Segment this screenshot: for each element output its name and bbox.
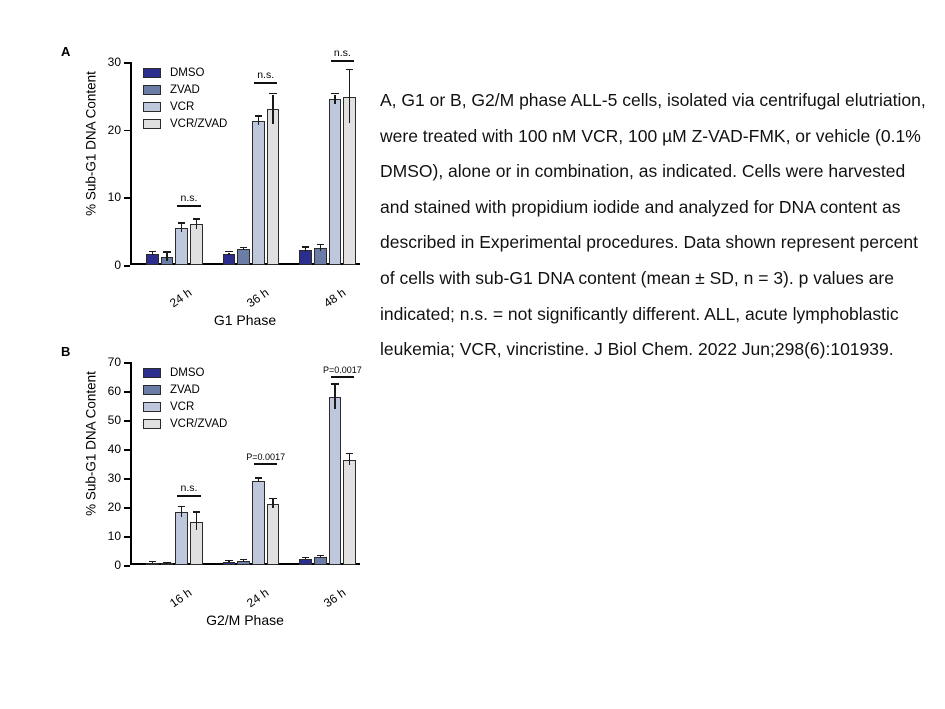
error-bar [152,252,153,255]
error-bar-cap [225,251,232,252]
significance-line [254,82,277,84]
error-bar [243,248,244,250]
y-tick-label: 40 [108,442,121,456]
panel-a-legend: DMSOZVADVCRVCR/ZVAD [143,64,227,132]
y-tick-mark [124,265,130,267]
error-bar-cap [163,251,170,252]
bar [267,504,280,565]
y-tick-label: 30 [108,471,121,485]
error-bar [272,95,273,125]
error-bar-cap [302,246,309,247]
significance-bracket: n.s. [177,193,200,207]
bar [175,512,188,565]
y-tick-mark [124,62,130,64]
error-bar [334,385,335,409]
error-bar-cap [178,222,185,223]
legend-swatch-icon [143,368,161,378]
significance-bracket: n.s. [177,483,200,497]
bar [299,559,312,565]
panel-a-y-axis-label: % Sub-G1 DNA Content [84,49,99,239]
legend-label: ZVAD [170,84,200,96]
y-tick-label: 0 [114,558,121,572]
error-bar [305,558,306,559]
panel-b-x-axis-title: G2/M Phase [130,612,360,628]
error-bar [334,95,335,104]
y-tick-label: 70 [108,355,121,369]
y-tick-mark [124,197,130,199]
significance-label: P=0.0017 [246,452,285,462]
panel-a-letter: A [61,44,70,59]
y-tick-label: 10 [108,529,121,543]
y-tick-label: 20 [108,123,121,137]
bar [329,397,342,565]
error-bar [272,499,273,508]
error-bar [181,507,182,517]
legend-item: VCR [143,98,227,115]
significance-label: n.s. [181,192,198,204]
error-bar [196,513,197,530]
error-bar [349,70,350,123]
legend-label: VCR [170,401,194,413]
legend-label: VCR/ZVAD [170,418,227,430]
x-tick-label: 48 h [321,285,348,310]
bar [267,109,280,265]
significance-label: n.s. [181,482,198,494]
error-bar [166,253,167,261]
legend-swatch-icon [143,402,161,412]
y-tick-label: 10 [108,190,121,204]
significance-label: n.s. [257,69,274,81]
significance-bracket: n.s. [254,70,277,84]
panel-a-x-axis-title: G1 Phase [130,312,360,328]
significance-line [177,495,200,497]
figure-column: A % Sub-G1 DNA Content 0102030 n.s.n.s.n… [55,40,375,650]
error-bar-cap [225,560,232,561]
significance-bracket: P=0.0017 [331,364,354,378]
bar [175,228,188,265]
legend-swatch-icon [143,119,161,129]
y-tick-mark [124,130,130,132]
bar [252,481,265,565]
error-bar-cap [331,93,338,94]
bar [314,557,327,565]
y-tick-label: 50 [108,413,121,427]
x-tick-label: 24 h [244,585,271,610]
x-tick-label: 24 h [167,285,194,310]
legend-swatch-icon [143,102,161,112]
x-tick-label: 36 h [244,285,271,310]
legend-label: VCR [170,101,194,113]
error-bar-cap [193,511,200,512]
legend-label: ZVAD [170,384,200,396]
error-bar [243,560,244,562]
y-tick-mark [124,536,130,538]
significance-label: n.s. [334,47,351,59]
error-bar [196,220,197,229]
x-tick-label: 36 h [321,585,348,610]
error-bar-cap [149,561,156,562]
y-tick-mark [124,362,130,364]
legend-item: DMSO [143,364,227,381]
bar [252,121,265,265]
error-bar-cap [346,453,353,454]
bar [223,254,236,266]
bar [146,254,159,266]
error-bar [305,248,306,253]
error-bar-cap [193,218,200,219]
legend-label: DMSO [170,367,205,379]
panel-b-letter: B [61,344,70,359]
legend-item: DMSO [143,64,227,81]
significance-label: P=0.0017 [323,365,362,375]
error-bar [166,563,167,564]
y-tick-mark [124,565,130,567]
legend-item: VCR [143,398,227,415]
legend-item: ZVAD [143,381,227,398]
bar [343,460,356,565]
error-bar-cap [255,477,262,478]
error-bar-cap [331,383,338,384]
y-tick-mark [124,391,130,393]
error-bar-cap [149,251,156,252]
y-tick-label: 60 [108,384,121,398]
error-bar-cap [255,115,262,116]
error-bar [228,253,229,255]
panel-a: A % Sub-G1 DNA Content 0102030 n.s.n.s.n… [55,40,375,340]
legend-label: DMSO [170,67,205,79]
error-bar [258,479,259,482]
legend-swatch-icon [143,385,161,395]
error-bar-cap [178,506,185,507]
y-tick-mark [124,507,130,509]
y-tick-label: 0 [114,258,121,272]
legend-swatch-icon [143,68,161,78]
bar [237,249,250,265]
y-tick-mark [124,420,130,422]
bar [329,99,342,265]
legend-item: VCR/ZVAD [143,115,227,132]
error-bar-cap [317,244,324,245]
error-bar-cap [163,562,170,563]
y-tick-mark [124,478,130,480]
y-tick-mark [124,449,130,451]
panel-b-legend: DMSOZVADVCRVCR/ZVAD [143,364,227,432]
error-bar [320,556,321,557]
x-tick-label: 16 h [167,585,194,610]
error-bar-cap [346,69,353,70]
error-bar [320,245,321,251]
error-bar [152,562,153,563]
panel-b-y-axis-label: % Sub-G1 DNA Content [84,349,99,539]
legend-swatch-icon [143,419,161,429]
error-bar [228,561,229,562]
error-bar [349,454,350,465]
error-bar-cap [240,559,247,560]
y-tick-label: 30 [108,55,121,69]
error-bar-cap [269,93,276,94]
significance-bracket: P=0.0017 [254,451,277,465]
error-bar-cap [302,557,309,558]
significance-line [331,60,354,62]
y-tick-label: 20 [108,500,121,514]
error-bar-cap [240,247,247,248]
figure-caption: A, G1 or B, G2/M phase ALL-5 cells, isol… [380,83,928,368]
legend-item: VCR/ZVAD [143,415,227,432]
error-bar [181,224,182,232]
significance-line [331,376,354,378]
panel-b: B % Sub-G1 DNA Content 010203040506070 n… [55,340,375,640]
significance-bracket: n.s. [331,48,354,62]
figure-page: A % Sub-G1 DNA Content 0102030 n.s.n.s.n… [0,0,945,709]
bar [190,224,203,265]
significance-line [177,205,200,207]
error-bar [258,117,259,125]
error-bar-cap [269,498,276,499]
legend-item: ZVAD [143,81,227,98]
legend-label: VCR/ZVAD [170,118,227,130]
significance-line [254,463,277,465]
legend-swatch-icon [143,85,161,95]
error-bar-cap [317,555,324,556]
